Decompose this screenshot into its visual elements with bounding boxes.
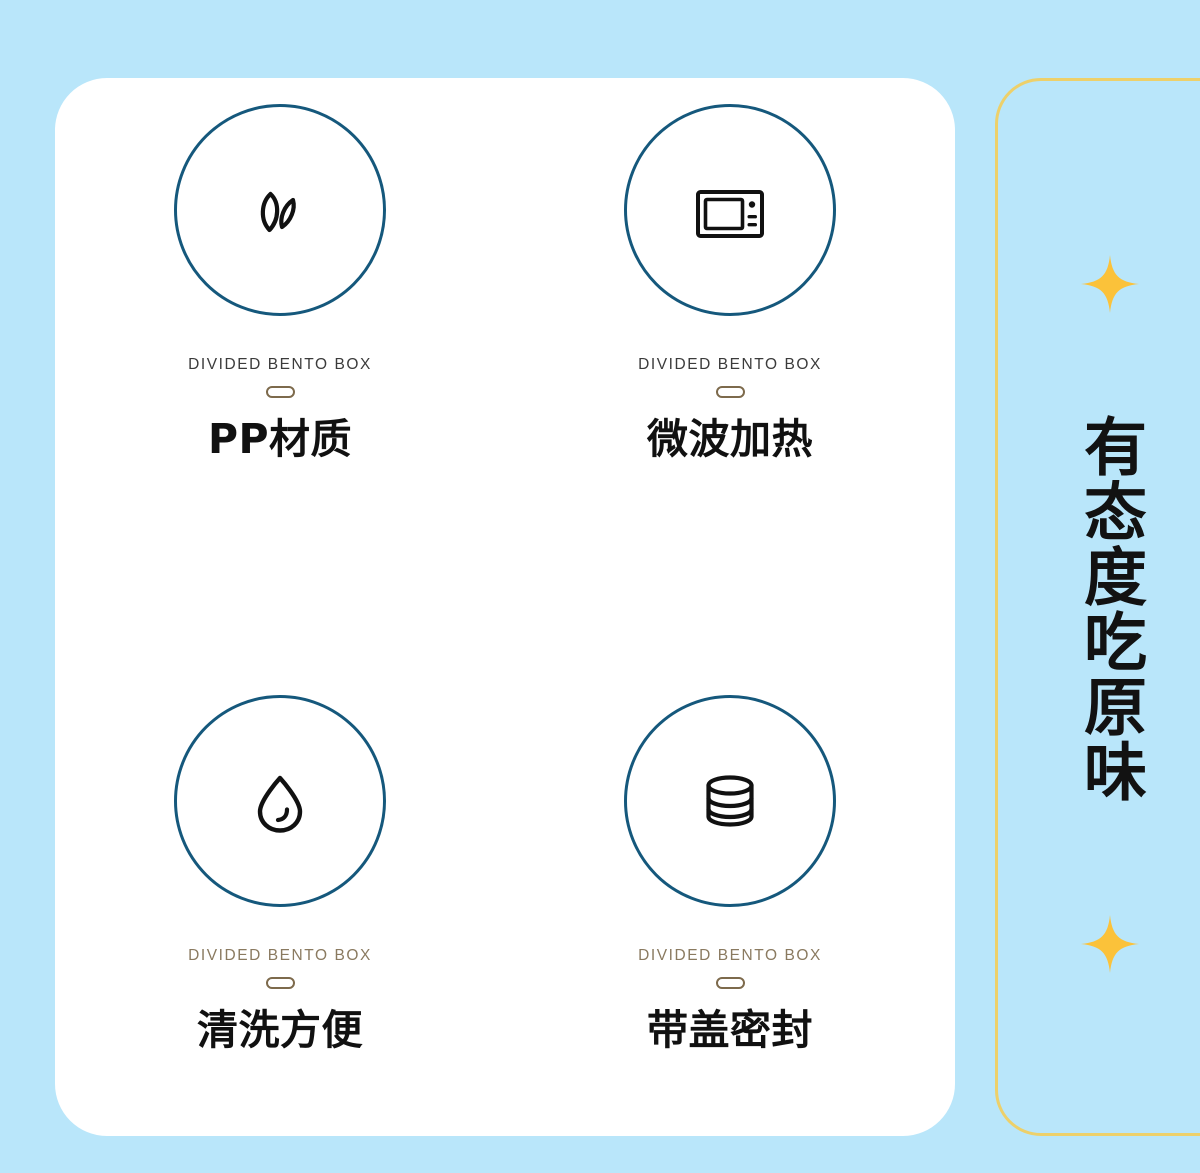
feature-grid: DIVIDED BENTO BOX PP材质 (55, 78, 955, 1136)
feature-item-pp-material[interactable]: DIVIDED BENTO BOX PP材质 (55, 78, 505, 607)
infographic-page: DIVIDED BENTO BOX PP材质 (0, 0, 1200, 1173)
divider-pill (716, 977, 745, 989)
feature-title: 带盖密封 (647, 1010, 813, 1051)
feature-item-easy-clean[interactable]: DIVIDED BENTO BOX 清洗方便 (55, 607, 505, 1136)
icon-circle (624, 695, 836, 907)
feature-item-sealed-lid[interactable]: DIVIDED BENTO BOX 带盖密封 (505, 607, 955, 1136)
sparkle-icon (1079, 253, 1141, 315)
divider-pill (266, 977, 295, 989)
divider-pill (716, 386, 745, 398)
feature-eyebrow: DIVIDED BENTO BOX (638, 948, 822, 964)
microwave-icon (687, 167, 773, 253)
icon-circle (174, 104, 386, 316)
feature-title: 清洗方便 (197, 1010, 363, 1051)
leaf-icon (240, 170, 320, 250)
feature-item-microwave[interactable]: DIVIDED BENTO BOX 微波加热 (505, 78, 955, 607)
icon-circle (174, 695, 386, 907)
feature-title: PP材质 (208, 419, 352, 460)
feature-card: DIVIDED BENTO BOX PP材质 (55, 78, 955, 1136)
feature-eyebrow: DIVIDED BENTO BOX (638, 357, 822, 373)
divider-pill (266, 386, 295, 398)
water-drop-icon (240, 761, 320, 841)
feature-title: 微波加热 (647, 419, 813, 460)
sparkle-icon (1079, 913, 1141, 975)
feature-eyebrow: DIVIDED BENTO BOX (188, 948, 372, 964)
icon-circle (624, 104, 836, 316)
stacked-container-icon (690, 761, 770, 841)
vertical-slogan: 有态度吃原味 (1064, 414, 1142, 804)
feature-eyebrow: DIVIDED BENTO BOX (188, 357, 372, 373)
